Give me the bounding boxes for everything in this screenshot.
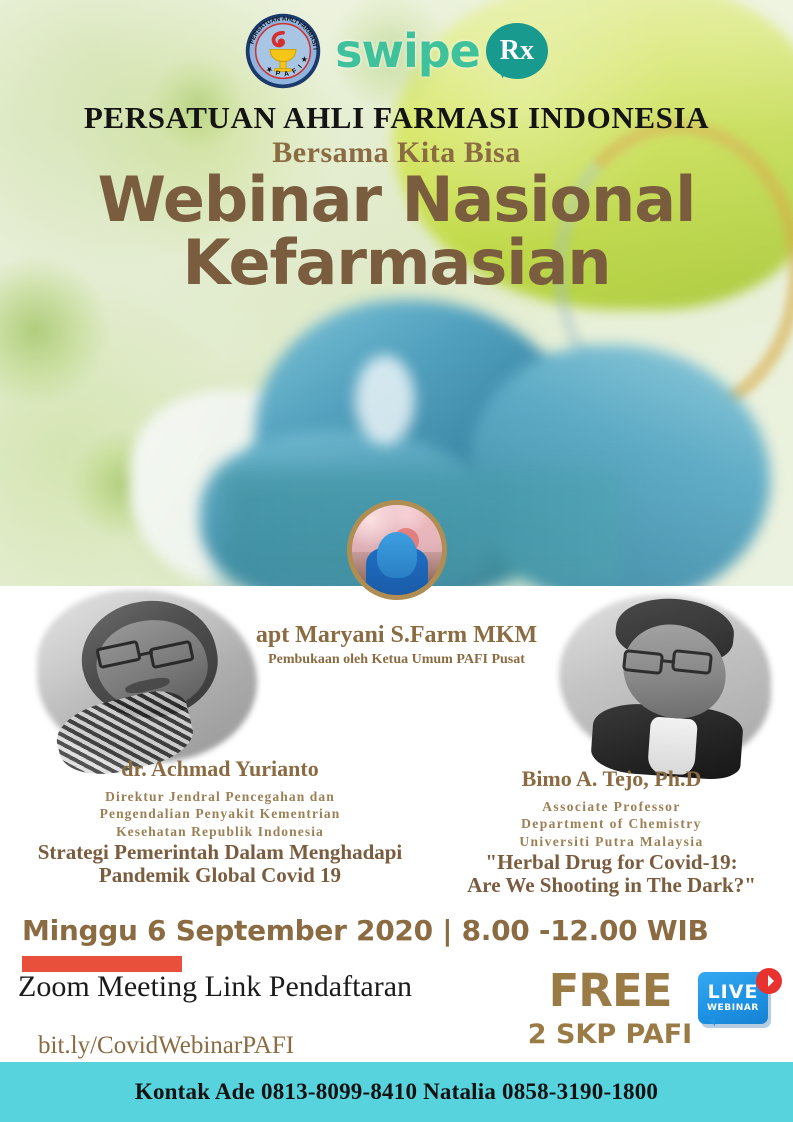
speaker-left-details: dr. Achmad Yurianto Direktur Jendral Pen… xyxy=(0,756,440,888)
play-icon xyxy=(756,968,782,994)
rx-label: Rx xyxy=(500,35,534,67)
title-line-1: Webinar Nasional xyxy=(98,163,696,236)
affiliation-line: Universiti Putra Malaysia xyxy=(430,833,793,850)
credits-label: 2 SKP PAFI xyxy=(520,1021,700,1048)
registration-link[interactable]: bit.ly/CovidWebinarPAFI xyxy=(38,1032,294,1060)
topic-line: Are We Shooting in The Dark?" xyxy=(430,874,793,898)
logo-row: PERSATUAN AHLI FARMASI INDONESIA ★ P A F… xyxy=(0,10,793,92)
affiliation-line: Kesehatan Republik Indonesia xyxy=(0,823,440,840)
swipe-wordmark: swipe xyxy=(335,28,480,74)
contact-text: Kontak Ade 0813-8099-8410 Natalia 0858-3… xyxy=(135,1079,658,1105)
center-speaker-name: apt Maryani S.Farm MKM xyxy=(0,622,793,649)
pricing-block: FREE 2 SKP PAFI xyxy=(520,968,700,1048)
topic-line: "Herbal Drug for Covid-19: xyxy=(430,851,793,875)
speaker-right-name: Bimo A. Tejo, Ph.D xyxy=(430,766,793,792)
affiliation-line: Direktur Jendral Pencegahan dan xyxy=(0,788,440,805)
topic-line: Strategi Pemerintah Dalam Menghadapi xyxy=(0,841,440,865)
webinar-poster: PERSATUAN AHLI FARMASI INDONESIA ★ P A F… xyxy=(0,0,793,1122)
title-line-2: Kefarmasian xyxy=(0,231,793,294)
free-label: FREE xyxy=(520,968,700,1013)
page-title: Webinar Nasional Kefarmasian xyxy=(0,168,793,294)
affiliation-line: Pengendalian Penyakit Kementrian xyxy=(0,805,440,822)
platform-registration-label: Zoom Meeting Link Pendaftaran xyxy=(18,970,412,1004)
center-speaker: apt Maryani S.Farm MKM Pembukaan oleh Ke… xyxy=(0,500,793,668)
live-webinar-badge: LIVE WEBINAR xyxy=(698,972,780,1036)
speaker-left-topic: Strategi Pemerintah Dalam Menghadapi Pan… xyxy=(0,841,440,888)
rx-bubble-icon: Rx xyxy=(486,23,548,79)
center-speaker-avatar xyxy=(347,500,447,600)
affiliation-line: Department of Chemistry xyxy=(430,815,793,832)
topic-line: Pandemik Global Covid 19 xyxy=(0,864,440,888)
badge-webinar-text: WEBINAR xyxy=(707,1004,759,1013)
contact-band: Kontak Ade 0813-8099-8410 Natalia 0858-3… xyxy=(0,1062,793,1122)
avatar-hijab xyxy=(377,532,417,578)
affiliation-line: Associate Professor xyxy=(430,798,793,815)
speaker-right-affiliation: Associate Professor Department of Chemis… xyxy=(430,798,793,850)
speaker-left-name: dr. Achmad Yurianto xyxy=(0,756,440,782)
speaker-right-details: Bimo A. Tejo, Ph.D Associate Professor D… xyxy=(430,766,793,898)
event-datetime: Minggu 6 September 2020 | 8.00 -12.00 WI… xyxy=(22,914,709,947)
speaker-left-affiliation: Direktur Jendral Pencegahan dan Pengenda… xyxy=(0,788,440,840)
pafi-logo: PERSATUAN AHLI FARMASI INDONESIA ★ P A F… xyxy=(245,13,321,89)
center-speaker-role: Pembukaan oleh Ketua Umum PAFI Pusat xyxy=(0,652,793,668)
badge-live-text: LIVE xyxy=(708,983,759,1002)
speaker-right-topic: "Herbal Drug for Covid-19: Are We Shooti… xyxy=(430,851,793,898)
organization-name: PERSATUAN AHLI FARMASI INDONESIA xyxy=(0,100,793,136)
swiperx-logo: swipe Rx xyxy=(335,23,548,79)
